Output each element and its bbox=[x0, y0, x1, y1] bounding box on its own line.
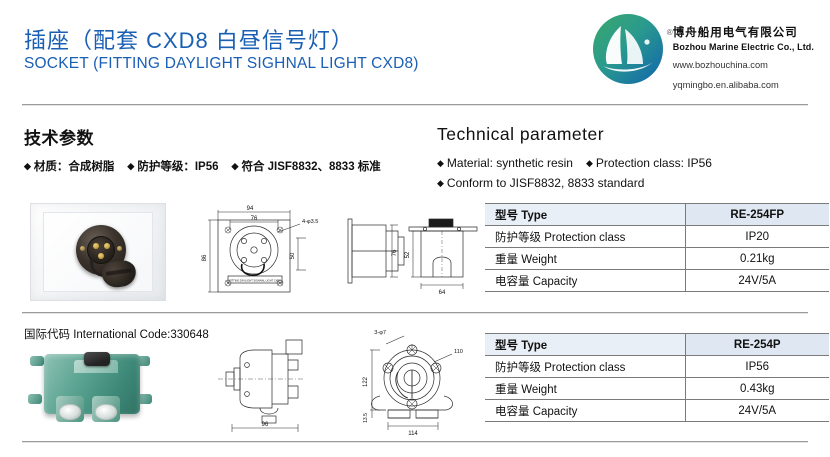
socket-cap-ridge bbox=[106, 268, 132, 276]
table-cell-key: 电容量 Capacity bbox=[485, 270, 685, 292]
spec-bullet-line-cn: ◆材质：合成树脂◆防护等级：IP56◆符合 JISF8832、8833 标准 bbox=[24, 158, 381, 177]
drawing-socket-front-view: 94 76 86 50 4-φ3.5 FITTING DAYLIGHT SIGH… bbox=[188, 198, 348, 304]
dim-label-76: 76 bbox=[251, 216, 258, 222]
spec-bullets-en: ◆Material: synthetic resin◆Protection cl… bbox=[437, 154, 712, 194]
dim-label-13-5: 13.5 bbox=[363, 413, 369, 423]
table-cell-value: IP20 bbox=[685, 226, 829, 248]
table-row: 型号 Type RE-254P bbox=[485, 334, 829, 356]
spec-bullet-line2-en: ◆Conform to JISF8832, 8833 standard bbox=[437, 174, 712, 194]
dim-label-96: 96 bbox=[262, 422, 269, 428]
company-name-en: Bozhou Marine Electric Co., Ltd. bbox=[673, 42, 814, 52]
drawing-box-front-view: 122 13.5 114 3-φ7 110 bbox=[340, 326, 495, 440]
page-header: 插座（配套 CXD8 白昼信号灯） SOCKET (FITTING DAYLIG… bbox=[0, 0, 830, 104]
drawing-plate-text: FITTING DAYLIGHT SIGHNAL LIGHT CXD8 bbox=[229, 279, 281, 283]
company-logo-block: ® 博舟船用电气有限公司 Bozhou Marine Electric Co.,… bbox=[591, 12, 814, 91]
dim-note-holes: 4-φ3.5 bbox=[302, 219, 318, 225]
table-cell-key: 防护等级 Protection class bbox=[485, 356, 685, 378]
table-cell-value: 24V/5A bbox=[685, 270, 829, 292]
diamond-bullet-icon: ◆ bbox=[437, 178, 444, 188]
cable-gland bbox=[56, 396, 84, 422]
spec-section-cn: 技术参数 ◆材质：合成树脂◆防护等级：IP56◆符合 JISF8832、8833… bbox=[24, 124, 381, 177]
socket-screw bbox=[80, 246, 85, 251]
dim-label-50: 50 bbox=[290, 252, 296, 259]
spec-protection-cn: 防护等级：IP56 bbox=[137, 161, 218, 173]
dim-label-86: 86 bbox=[202, 254, 208, 261]
spec-standard-cn: 符合 JISF8832、8833 标准 bbox=[241, 161, 380, 173]
socket-screw bbox=[117, 246, 122, 251]
title-block: 插座（配套 CXD8 白昼信号灯） SOCKET (FITTING DAYLIG… bbox=[24, 28, 419, 74]
spec-material-cn: 材质：合成树脂 bbox=[34, 161, 115, 173]
dim-label-64: 64 bbox=[439, 290, 446, 296]
table-cell-key: 重量 Weight bbox=[485, 248, 685, 270]
dim-label-94: 94 bbox=[247, 206, 254, 212]
diamond-bullet-icon: ◆ bbox=[437, 158, 444, 168]
spec-table-re254fp: 型号 Type RE-254FP 防护等级 Protection class I… bbox=[485, 203, 829, 292]
table-row: 防护等级 Protection class IP20 bbox=[485, 226, 829, 248]
product-photo-socket-panel bbox=[30, 203, 166, 301]
spec-section-en: Technical parameter ◆Material: synthetic… bbox=[437, 124, 712, 194]
table-cell-value: IP56 bbox=[685, 356, 829, 378]
datasheet-page: 插座（配套 CXD8 白昼信号灯） SOCKET (FITTING DAYLIG… bbox=[0, 0, 830, 457]
page-title-en: SOCKET (FITTING DAYLIGHT SIGHNAL LIGHT C… bbox=[24, 55, 419, 74]
diamond-bullet-icon: ◆ bbox=[127, 161, 134, 171]
table-cell-key: 电容量 Capacity bbox=[485, 400, 685, 422]
company-alibaba-site[interactable]: yqmingbo.en.alibaba.com bbox=[673, 79, 814, 92]
diamond-bullet-icon: ◆ bbox=[232, 161, 239, 171]
table-row: 电容量 Capacity 24V/5A bbox=[485, 400, 829, 422]
dim-label-110: 110 bbox=[454, 349, 463, 355]
spec-heading-cn: 技术参数 bbox=[24, 124, 381, 149]
box-mount-ear bbox=[28, 394, 42, 404]
box-mount-ear bbox=[138, 394, 152, 404]
spec-heading-en: Technical parameter bbox=[437, 124, 712, 145]
sailboat-logo-icon: ® bbox=[591, 12, 665, 86]
table-cell-key: 型号 Type bbox=[485, 334, 685, 356]
company-website[interactable]: www.bozhouchina.com bbox=[673, 59, 814, 72]
table-cell-key: 型号 Type bbox=[485, 204, 685, 226]
table-row: 防护等级 Protection class IP56 bbox=[485, 356, 829, 378]
spec-bullets-cn: ◆材质：合成树脂◆防护等级：IP56◆符合 JISF8832、8833 标准 bbox=[24, 158, 381, 177]
page-title-cn: 插座（配套 CXD8 白昼信号灯） bbox=[24, 28, 419, 53]
cable-gland bbox=[92, 396, 120, 422]
table-cell-key: 防护等级 Protection class bbox=[485, 226, 685, 248]
table-cell-value: 0.43kg bbox=[685, 378, 829, 400]
table-cell-value: 0.21kg bbox=[685, 248, 829, 270]
table-row: 重量 Weight 0.21kg bbox=[485, 248, 829, 270]
spec-material-en: Material: synthetic resin bbox=[447, 156, 573, 170]
drawing-box-side-view: 96 bbox=[200, 330, 340, 438]
table-cell-key: 重量 Weight bbox=[485, 378, 685, 400]
spec-standard-en: Conform to JISF8832, 8833 standard bbox=[447, 176, 644, 190]
box-mount-ear bbox=[30, 356, 44, 366]
dim-note-box-holes: 3-φ7 bbox=[374, 330, 386, 336]
table-row: 电容量 Capacity 24V/5A bbox=[485, 270, 829, 292]
box-black-cap bbox=[84, 352, 110, 366]
table-cell-value: RE-254FP bbox=[685, 204, 829, 226]
spec-bullet-line1-en: ◆Material: synthetic resin◆Protection cl… bbox=[437, 154, 712, 174]
table-cell-value: 24V/5A bbox=[685, 400, 829, 422]
company-name-cn: 博舟船用电气有限公司 bbox=[673, 24, 814, 40]
socket-pin bbox=[104, 243, 110, 249]
divider-bottom bbox=[22, 441, 808, 442]
spec-table-re254p: 型号 Type RE-254P 防护等级 Protection class IP… bbox=[485, 333, 829, 422]
drawing-socket-section-view: 52 64 bbox=[395, 205, 491, 297]
socket-pin bbox=[93, 243, 99, 249]
company-text: 博舟船用电气有限公司 Bozhou Marine Electric Co., L… bbox=[673, 12, 814, 91]
product-photo-junction-box bbox=[26, 338, 172, 434]
cable-gland-ring bbox=[95, 404, 117, 420]
dim-label-114: 114 bbox=[408, 431, 418, 437]
table-cell-value: RE-254P bbox=[685, 334, 829, 356]
table-row: 重量 Weight 0.43kg bbox=[485, 378, 829, 400]
dim-label-52: 52 bbox=[405, 251, 411, 258]
divider-top bbox=[22, 104, 808, 105]
table-row: 型号 Type RE-254FP bbox=[485, 204, 829, 226]
divider-middle bbox=[22, 312, 808, 313]
diamond-bullet-icon: ◆ bbox=[586, 158, 593, 168]
spec-protection-en: Protection class: IP56 bbox=[596, 156, 712, 170]
registered-mark: ® bbox=[667, 28, 673, 37]
cable-gland-ring bbox=[59, 404, 81, 420]
diamond-bullet-icon: ◆ bbox=[24, 161, 31, 171]
dim-label-122: 122 bbox=[363, 376, 369, 387]
